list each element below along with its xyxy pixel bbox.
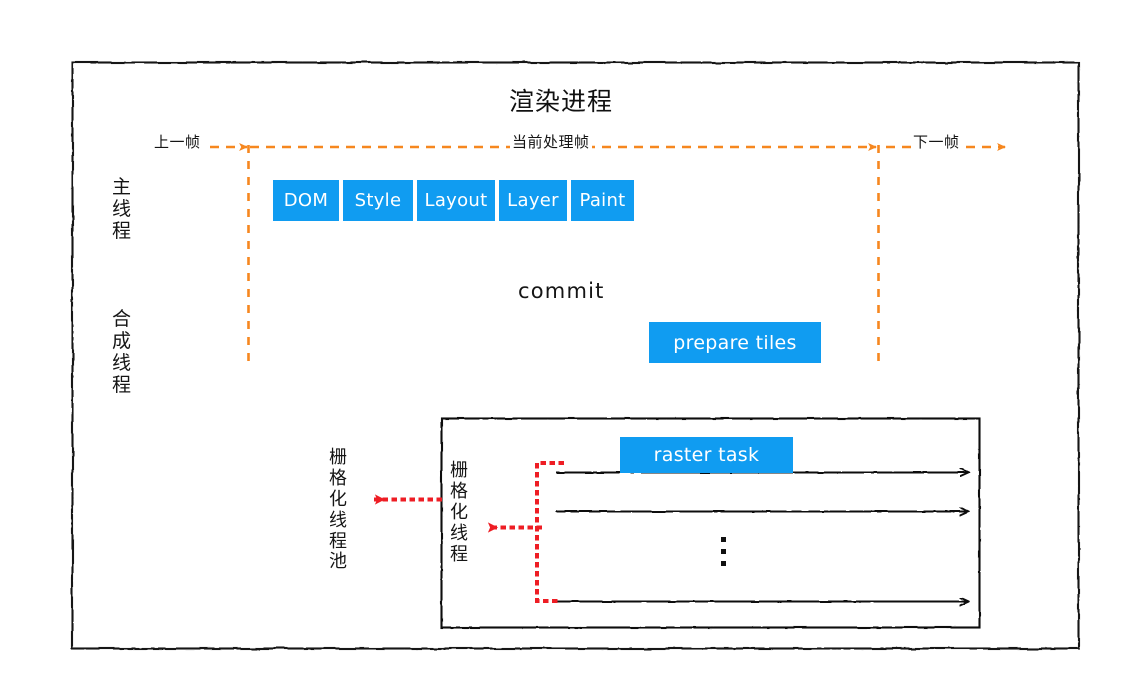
ellipsis-dot: [721, 537, 726, 542]
raster-thread-label-char: 格: [450, 482, 468, 503]
stage-box-style[interactable]: Style: [343, 180, 415, 221]
raster-lanes-ellipsis: [721, 537, 726, 566]
raster-thread-label-char: 化: [450, 503, 468, 524]
diagram-canvas: 渲染进程 上一帧 当前处理帧 下一帧 主 线 程 合 成 线 程 DOM Sty…: [0, 0, 1142, 677]
bracket-path: [537, 463, 562, 601]
raster-thread-pool-label: 栅 格 化 线 程 池: [329, 448, 347, 573]
raster-pool-label-char: 池: [329, 552, 347, 573]
compositor-thread-label-char: 程: [112, 374, 131, 396]
compositor-thread-label-char: 线: [112, 352, 131, 374]
raster-thread-label: 栅 格 化 线 程: [450, 461, 468, 565]
timeline-label-prev-frame: 上一帧: [152, 131, 203, 152]
ellipsis-dot: [721, 561, 726, 566]
raster-thread-bracket: [537, 463, 562, 601]
raster-thread-label-char: 程: [450, 545, 468, 566]
compositor-thread-label: 合 成 线 程: [112, 308, 131, 396]
timeline-label-current-frame: 当前处理帧: [510, 131, 592, 152]
stage-box-dom[interactable]: DOM: [273, 180, 341, 221]
raster-pool-label-char: 化: [329, 490, 347, 511]
prepare-tiles-box[interactable]: prepare tiles: [649, 322, 821, 363]
compositor-thread-label-char: 成: [112, 330, 131, 352]
timeline-label-next-frame: 下一帧: [911, 131, 962, 152]
main-thread-label: 主 线 程: [112, 176, 131, 242]
main-thread-label-char: 程: [112, 220, 131, 242]
main-thread-label-char: 线: [112, 198, 131, 220]
stage-box-layer[interactable]: Layer: [499, 180, 569, 221]
raster-pool-label-char: 格: [329, 469, 347, 490]
main-thread-label-char: 主: [112, 176, 131, 198]
stage-box-paint[interactable]: Paint: [571, 180, 634, 221]
raster-lane-arrows: [556, 473, 968, 602]
raster-pool-label-char: 栅: [329, 448, 347, 469]
raster-pool-label-char: 程: [329, 532, 347, 553]
raster-thread-label-char: 线: [450, 524, 468, 545]
stage-box-layout[interactable]: Layout: [417, 180, 497, 221]
timeline-orange-group: [162, 145, 1005, 368]
commit-label: commit: [518, 279, 605, 303]
raster-pool-label-char: 线: [329, 511, 347, 532]
ellipsis-dot: [721, 549, 726, 554]
raster-thread-label-char: 栅: [450, 461, 468, 482]
compositor-thread-label-char: 合: [112, 308, 131, 330]
raster-task-box[interactable]: raster task: [620, 437, 793, 473]
page-title: 渲染进程: [509, 82, 613, 118]
